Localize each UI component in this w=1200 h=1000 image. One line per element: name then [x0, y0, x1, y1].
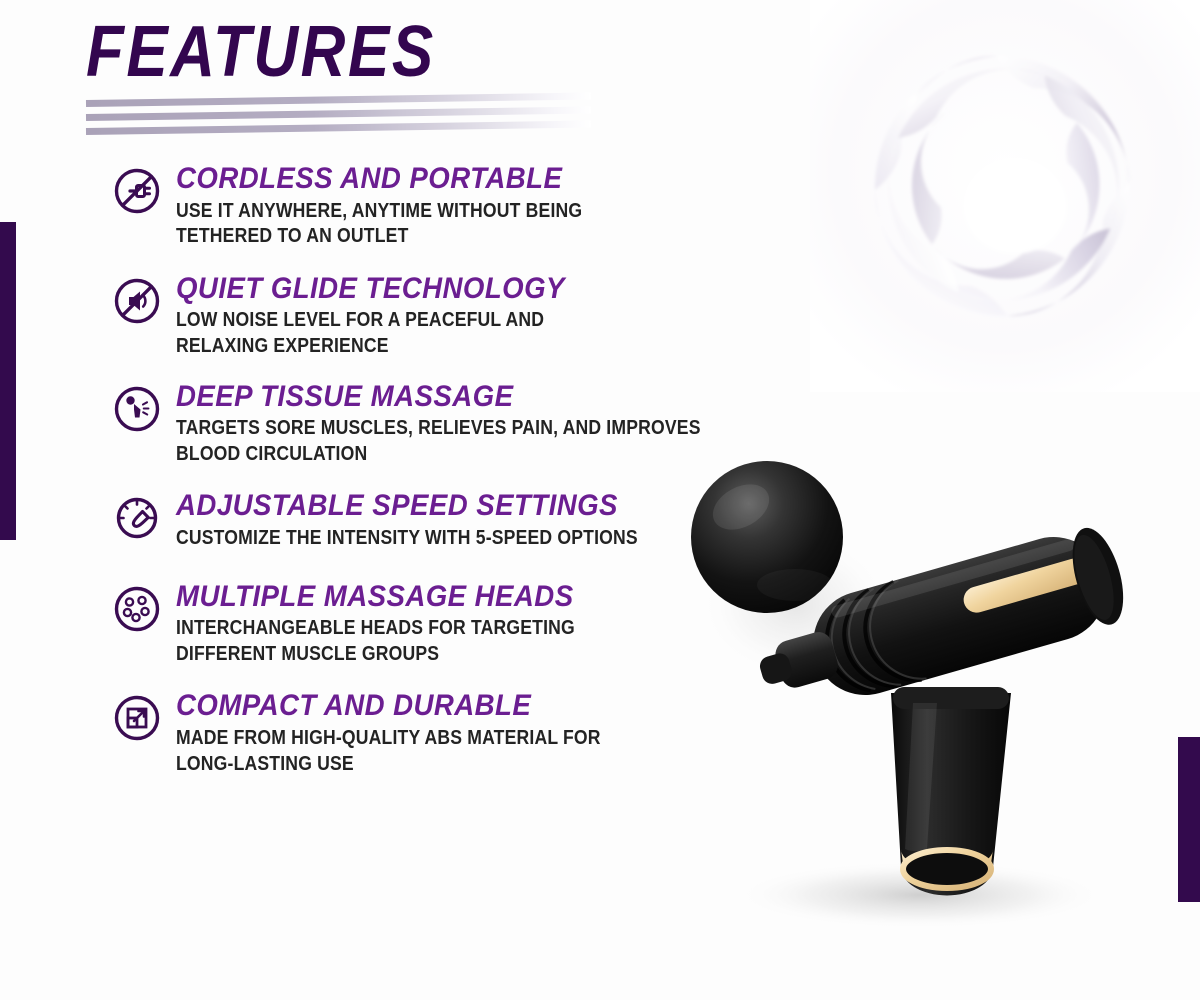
feature-text: MULTIPLE MASSAGE HEADS INTERCHANGEABLE H… — [176, 578, 678, 668]
feature-body-line: BLOOD CIRCULATION — [176, 442, 669, 468]
feature-body-line: USE IT ANYWHERE, ANYTIME WITHOUT BEING — [176, 199, 618, 225]
feature-body: USE IT ANYWHERE, ANYTIME WITHOUT BEING T… — [176, 199, 618, 250]
speedometer-icon — [108, 489, 166, 547]
feature-title: QUIET GLIDE TECHNOLOGY — [176, 274, 638, 305]
feature-body: INTERCHANGEABLE HEADS FOR TARGETING DIFF… — [176, 616, 618, 667]
feature-body-line: MADE FROM HIGH-QUALITY ABS MATERIAL FOR — [176, 726, 618, 752]
massage-gun-product-image — [645, 425, 1185, 945]
muted-speaker-icon — [108, 272, 166, 330]
feature-body-line: INTERCHANGEABLE HEADS FOR TARGETING — [176, 616, 618, 642]
feature-title: MULTIPLE MASSAGE HEADS — [176, 582, 638, 613]
feature-body-line: RELAXING EXPERIENCE — [176, 334, 618, 360]
page-header: FEATURES — [86, 16, 706, 142]
multi-head-circles-icon — [108, 580, 166, 638]
feature-body: CUSTOMIZE THE INTENSITY WITH 5-SPEED OPT… — [176, 526, 638, 552]
title-rule-2 — [86, 107, 591, 121]
page-title: FEATURES — [86, 16, 619, 88]
feature-body-line: DIFFERENT MUSCLE GROUPS — [176, 642, 618, 668]
feature-item-quiet-glide-technology: QUIET GLIDE TECHNOLOGY LOW NOISE LEVEL F… — [108, 270, 678, 360]
feature-body-line: LOW NOISE LEVEL FOR A PEACEFUL AND — [176, 308, 618, 334]
left-accent-bar — [0, 222, 16, 540]
feature-item-deep-tissue-massage: DEEP TISSUE MASSAGE TARGETS SORE MUSCLES… — [108, 378, 678, 468]
feature-item-cordless-and-portable: CORDLESS AND PORTABLE USE IT ANYWHERE, A… — [108, 160, 678, 250]
feature-body: TARGETS SORE MUSCLES, RELIEVES PAIN, AND… — [176, 416, 669, 467]
no-cord-plug-icon — [108, 162, 166, 220]
feature-text: QUIET GLIDE TECHNOLOGY LOW NOISE LEVEL F… — [176, 270, 678, 360]
lavender-swirl-ribbon — [810, 0, 1200, 392]
title-rule-1 — [86, 93, 591, 107]
feature-text: ADJUSTABLE SPEED SETTINGS CUSTOMIZE THE … — [176, 487, 701, 551]
feature-title: CORDLESS AND PORTABLE — [176, 164, 638, 195]
features-list: CORDLESS AND PORTABLE USE IT ANYWHERE, A… — [108, 160, 678, 777]
poster-canvas: FEATURES — [0, 0, 1200, 1000]
feature-body: LOW NOISE LEVEL FOR A PEACEFUL AND RELAX… — [176, 308, 618, 359]
feature-body-line: TARGETS SORE MUSCLES, RELIEVES PAIN, AND… — [176, 416, 669, 442]
feature-body: MADE FROM HIGH-QUALITY ABS MATERIAL FOR … — [176, 726, 618, 777]
feature-item-multiple-massage-heads: MULTIPLE MASSAGE HEADS INTERCHANGEABLE H… — [108, 578, 678, 668]
feature-title: DEEP TISSUE MASSAGE — [176, 382, 691, 413]
feature-item-compact-and-durable: COMPACT AND DURABLE MADE FROM HIGH-QUALI… — [108, 687, 678, 777]
feature-text: COMPACT AND DURABLE MADE FROM HIGH-QUALI… — [176, 687, 678, 777]
feature-body-line: CUSTOMIZE THE INTENSITY WITH 5-SPEED OPT… — [176, 526, 638, 552]
feature-body-line: LONG-LASTING USE — [176, 752, 618, 778]
feature-text: CORDLESS AND PORTABLE USE IT ANYWHERE, A… — [176, 160, 678, 250]
feature-title: ADJUSTABLE SPEED SETTINGS — [176, 491, 659, 522]
title-rule-3 — [86, 121, 591, 135]
massage-gun-impact-icon — [108, 380, 166, 438]
compact-resize-icon — [108, 689, 166, 747]
feature-item-adjustable-speed-settings: ADJUSTABLE SPEED SETTINGS CUSTOMIZE THE … — [108, 487, 678, 551]
feature-title: COMPACT AND DURABLE — [176, 691, 638, 722]
feature-body-line: TETHERED TO AN OUTLET — [176, 224, 618, 250]
title-underline-rules — [86, 98, 606, 142]
